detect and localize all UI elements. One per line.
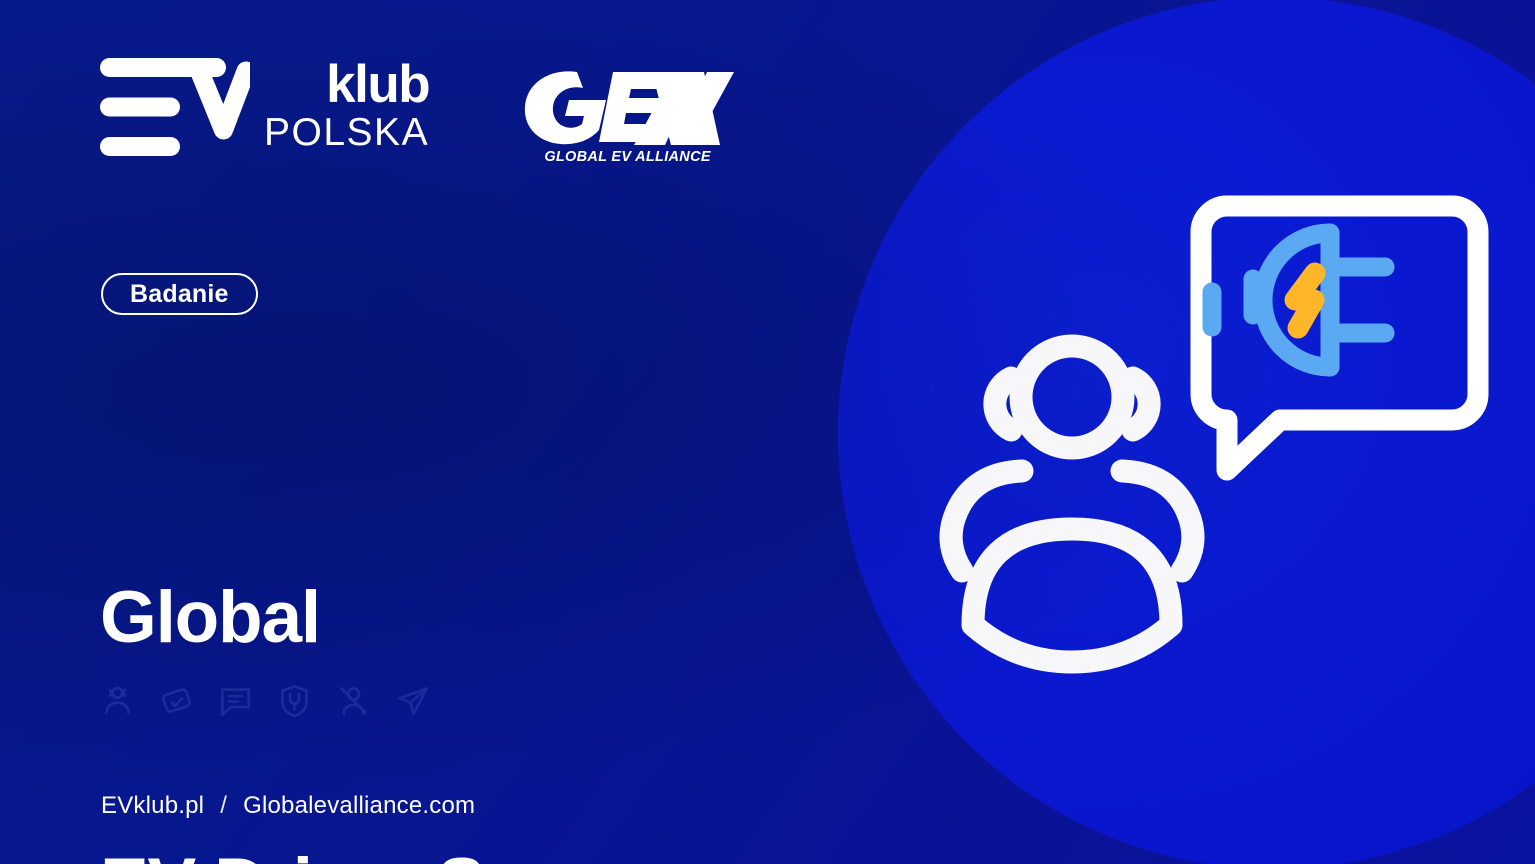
- people-group-icon: [951, 346, 1193, 662]
- lightning-bolt: [1295, 273, 1315, 328]
- evklub-wordmark: klub POLSKA: [264, 58, 429, 154]
- tag-icon: [159, 683, 194, 718]
- send-plane-icon: [395, 683, 430, 718]
- footer-link-evklub[interactable]: EVklub.pl: [101, 792, 204, 820]
- chat-message-icon: [218, 683, 253, 718]
- evklub-word-klub: klub: [326, 60, 429, 111]
- geva-logo[interactable]: GLOBAL EV ALLIANCE: [521, 58, 734, 165]
- geva-subtitle: GLOBAL EV ALLIANCE: [544, 149, 711, 165]
- footer-link-globalevalliance[interactable]: Globalevalliance.com: [243, 792, 475, 820]
- ev-monogram-icon: [100, 58, 250, 156]
- decorative-icon-strip: [100, 683, 430, 718]
- headline-line-2: EV Driver Survey: [100, 840, 673, 864]
- footer-separator: /: [220, 792, 227, 820]
- headline-line-1: Global: [100, 573, 673, 662]
- poster-canvas: klub POLSKA GLOBAL EV ALLIANCE Ba: [0, 0, 1535, 864]
- evklub-polska-logo[interactable]: klub POLSKA: [100, 58, 429, 156]
- ev-plug-icon: [1212, 233, 1385, 367]
- user-profile-icon: [100, 683, 135, 718]
- person-search-icon: [336, 683, 371, 718]
- logo-row: klub POLSKA GLOBAL EV ALLIANCE: [100, 58, 734, 165]
- hero-artwork: [915, 175, 1495, 675]
- shield-plug-icon: [277, 683, 312, 718]
- ev-driver-community-illustration: [915, 175, 1495, 675]
- study-badge[interactable]: Badanie: [101, 273, 258, 315]
- footer-links: EVklub.pl / Globalevalliance.com: [101, 792, 475, 820]
- evklub-word-polska: POLSKA: [264, 113, 429, 154]
- geva-wordmark-icon: [521, 66, 734, 148]
